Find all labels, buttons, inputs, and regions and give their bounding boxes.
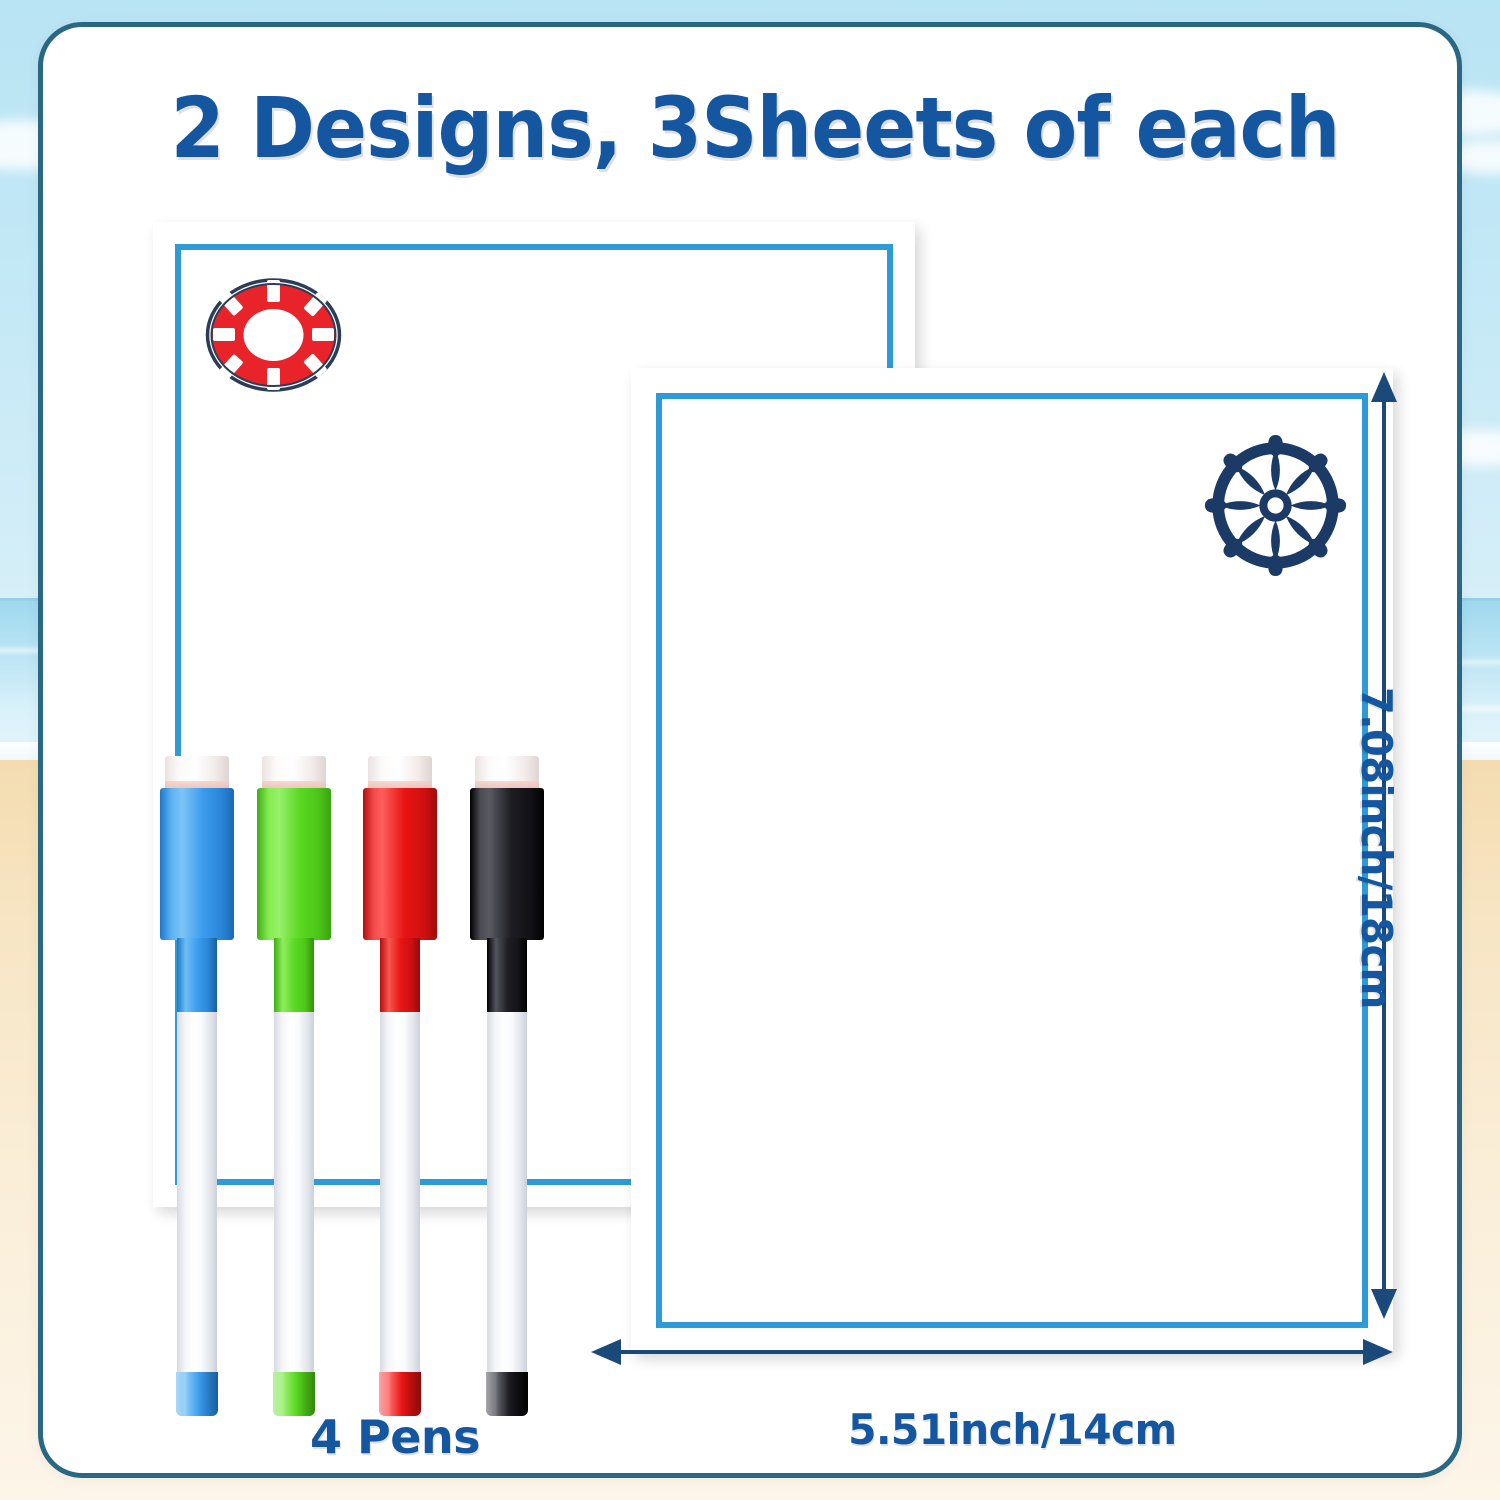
dimension-arrow-left-icon — [591, 1339, 621, 1365]
pen-neck — [487, 938, 527, 1016]
dimension-label-width: 5.51inch/14cm — [848, 1405, 1177, 1454]
life-ring-icon — [201, 275, 346, 395]
pen-barrel — [487, 1012, 527, 1376]
dimension-arrow-up-icon — [1371, 372, 1397, 402]
pen-neck — [380, 938, 420, 1016]
pen-barrel — [274, 1012, 314, 1376]
pen-eraser-tip — [165, 756, 229, 790]
pen-cap — [363, 788, 437, 940]
page-title: 2 Designs, 3Sheets of each — [93, 79, 1417, 177]
pen-eraser-tip — [368, 756, 432, 790]
pen-neck — [177, 938, 217, 1016]
pen-cap — [257, 788, 331, 940]
pen-cap — [470, 788, 544, 940]
dimension-arrow-down-icon — [1371, 1289, 1397, 1319]
pen-barrel — [380, 1012, 420, 1376]
product-infographic: 2 Designs, 3Sheets of each — [0, 0, 1500, 1500]
pen-eraser-tip — [475, 756, 539, 790]
dimension-line-horizontal — [618, 1350, 1365, 1354]
pen-end-cap — [176, 1372, 218, 1416]
content-card: 2 Designs, 3Sheets of each — [38, 22, 1462, 1478]
dimension-arrow-right-icon — [1363, 1339, 1393, 1365]
pen-eraser-tip — [262, 756, 326, 790]
pen-cap — [160, 788, 234, 940]
pens-caption: 4 Pens — [275, 1410, 515, 1464]
ship-wheel-icon — [1198, 432, 1353, 579]
dimension-label-height: 7.08inch/18cm — [1352, 687, 1401, 1009]
pen-neck — [274, 938, 314, 1016]
pen-barrel — [177, 1012, 217, 1376]
